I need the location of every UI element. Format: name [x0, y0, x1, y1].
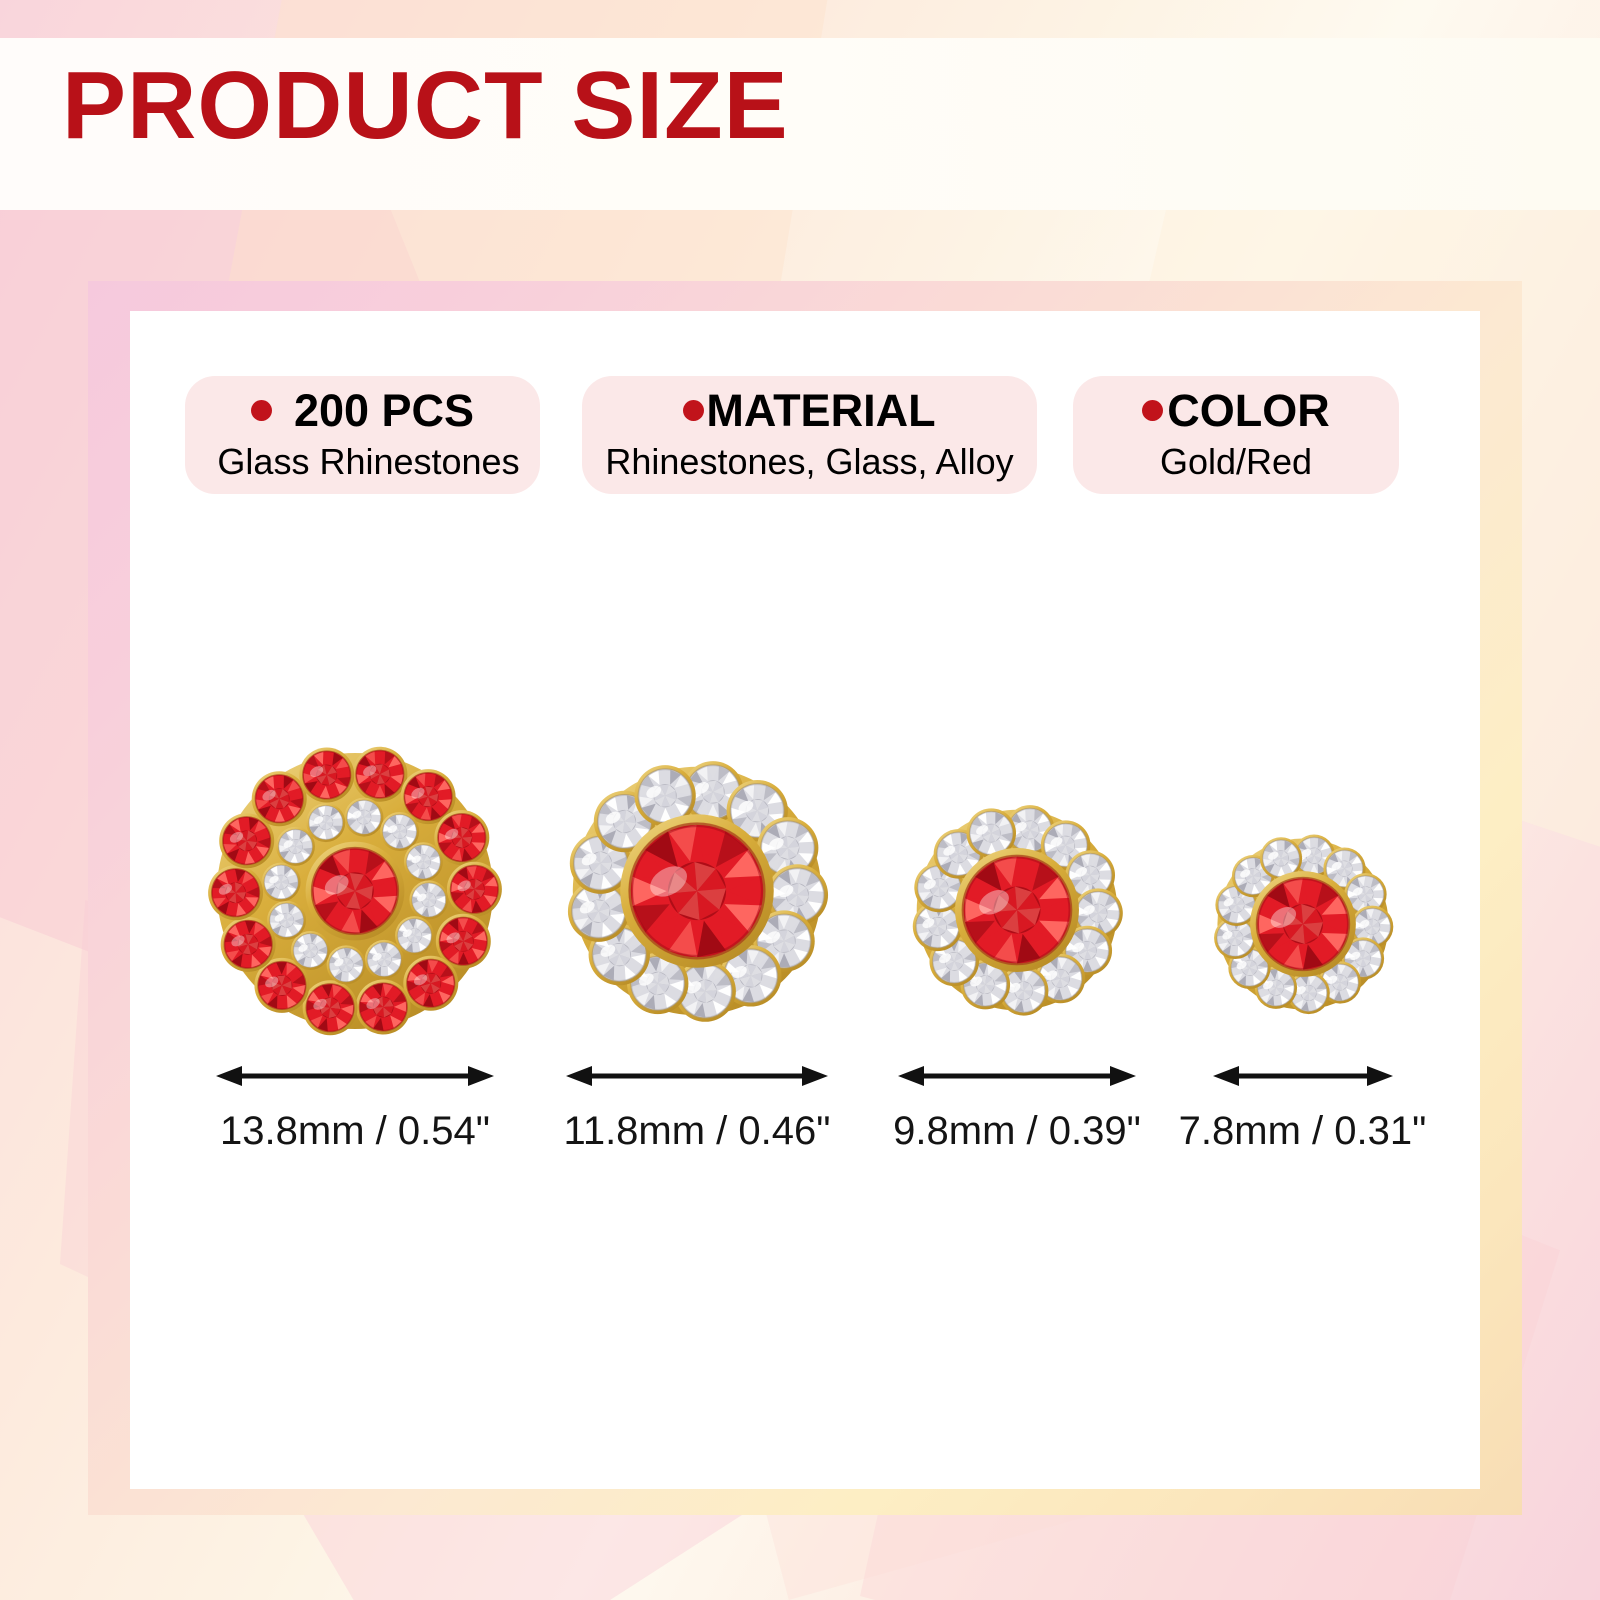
rhinestone-graphic	[908, 801, 1126, 1019]
rhinestone-graphic	[562, 756, 832, 1026]
bullet-dot-icon	[251, 400, 272, 421]
badge-header: MATERIAL	[582, 382, 1037, 438]
rhinestone-graphic	[205, 741, 505, 1041]
badge-subtitle: Glass Rhinestones	[185, 440, 546, 484]
page-title: PRODUCT SIZE	[62, 58, 789, 154]
bullet-dot-icon	[1142, 400, 1163, 421]
badge-title: MATERIAL	[706, 388, 935, 433]
card-frame: 200 PCS Glass Rhinestones MATERIAL Rhine…	[88, 281, 1522, 1515]
size-label-11-8mm: 11.8mm / 0.46"	[564, 1109, 831, 1154]
rhinestone-image-11-8mm	[562, 756, 832, 1026]
info-badge-row: 200 PCS Glass Rhinestones MATERIAL Rhine…	[185, 376, 1425, 506]
rhinestone-image-13-8mm	[205, 741, 505, 1041]
size-label-7-8mm: 7.8mm / 0.31"	[1179, 1109, 1427, 1154]
rhinestone-image-7-8mm	[1210, 831, 1396, 1017]
badge-title: 200 PCS	[294, 388, 474, 433]
dimension-arrow	[566, 1063, 828, 1093]
size-label-9-8mm: 9.8mm / 0.39"	[893, 1109, 1141, 1154]
product-size-infographic: PRODUCT SIZE 200 PCS Glass Rhinestones M…	[0, 0, 1600, 1600]
rhinestone-graphic	[1210, 831, 1396, 1017]
badge-header: COLOR	[1073, 382, 1399, 438]
product-size-row: 13.8mm / 0.54" 11.8mm / 0.46" 9.8mm / 0.…	[185, 731, 1435, 1431]
badge-material: MATERIAL Rhinestones, Glass, Alloy	[582, 376, 1037, 494]
product-item-13-8mm: 13.8mm / 0.54"	[185, 731, 525, 1431]
dimension-arrow	[216, 1063, 494, 1093]
badge-subtitle: Gold/Red	[1073, 440, 1399, 484]
content-card: 200 PCS Glass Rhinestones MATERIAL Rhine…	[130, 311, 1480, 1489]
badge-header: 200 PCS	[185, 382, 540, 438]
rhinestone-image-9-8mm	[908, 801, 1126, 1019]
dimension-arrow	[898, 1063, 1136, 1093]
badge-color: COLOR Gold/Red	[1073, 376, 1399, 494]
bullet-dot-icon	[683, 400, 704, 421]
product-item-9-8mm: 9.8mm / 0.39"	[877, 731, 1157, 1431]
product-item-7-8mm: 7.8mm / 0.31"	[1170, 731, 1435, 1431]
dimension-arrow	[1213, 1063, 1393, 1093]
badge-title: COLOR	[1167, 388, 1330, 433]
badge-subtitle: Rhinestones, Glass, Alloy	[582, 440, 1037, 484]
badge-quantity: 200 PCS Glass Rhinestones	[185, 376, 540, 494]
product-item-11-8mm: 11.8mm / 0.46"	[537, 731, 857, 1431]
size-label-13-8mm: 13.8mm / 0.54"	[220, 1109, 490, 1154]
